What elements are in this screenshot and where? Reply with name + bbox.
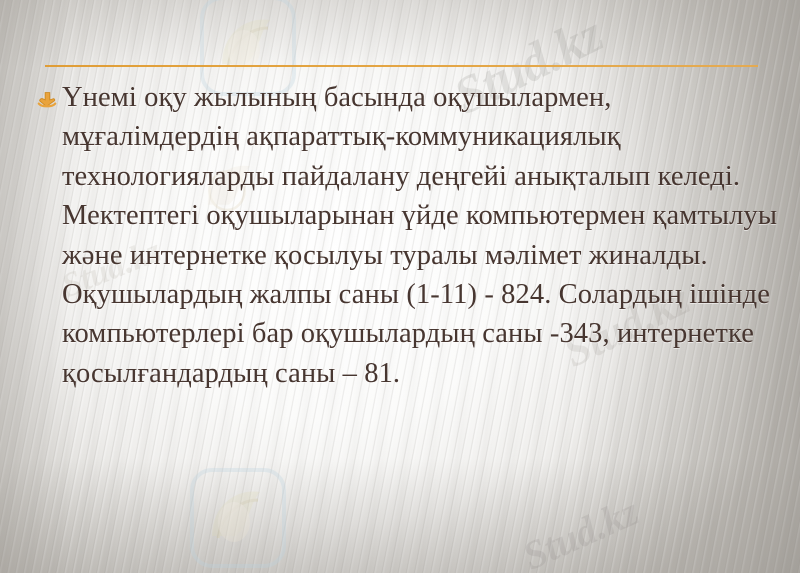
slide-body-text: Үнемі оқу жылының басында оқушылармен, м… — [62, 78, 782, 393]
gold-arrow-bullet-icon — [36, 88, 58, 110]
title-divider-rule — [45, 65, 758, 67]
slide-content-placeholder: Үнемі оқу жылының басында оқушылармен, м… — [36, 78, 782, 393]
bullet-list-item: Үнемі оқу жылының басында оқушылармен, м… — [36, 78, 782, 393]
presentation-slide: Stud.kz Stud.kz Stud.kz Stud.kz Үнемі оқ… — [0, 0, 800, 573]
